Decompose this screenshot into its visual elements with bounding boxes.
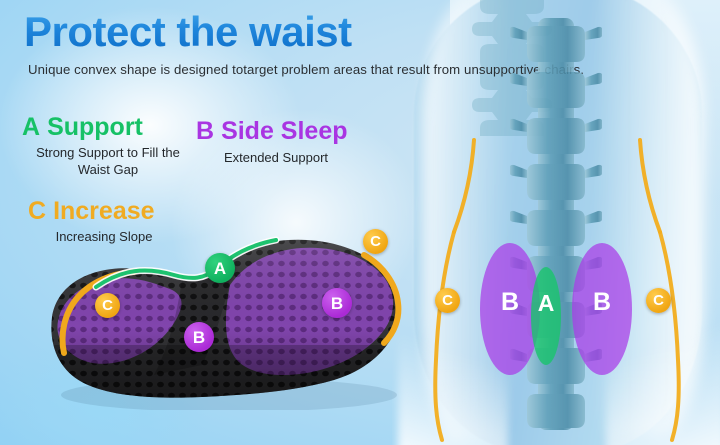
product-infographic: Protect the waist Unique convex shape is… <box>0 0 720 445</box>
feature-b-letter: B <box>196 117 214 145</box>
feature-block-a: ASupport Strong Support to Fill the Wais… <box>22 114 194 179</box>
feature-c-title: Increase <box>53 197 154 225</box>
anatomy-badge-c-left: C <box>435 288 460 313</box>
product-badge-c-left: C <box>95 293 120 318</box>
anatomy-label-a-center: A <box>531 290 561 317</box>
product-badge-c-right: C <box>363 229 388 254</box>
feature-c-letter: C <box>28 197 46 225</box>
feature-a-title: Support <box>47 113 143 141</box>
page-title: Protect the waist <box>24 11 352 53</box>
product-badge-b-right: B <box>322 288 352 318</box>
feature-a-letter: A <box>22 113 40 141</box>
anatomy-diagram: B A B C C <box>392 0 720 445</box>
feature-b-heading: BSide Sleep <box>196 118 356 144</box>
feature-block-b: BSide Sleep Extended Support <box>196 118 356 166</box>
product-badge-a: A <box>205 253 235 283</box>
feature-a-description: Strong Support to Fill the Waist Gap <box>22 144 194 178</box>
product-badge-b-left: B <box>184 322 214 352</box>
anatomy-badge-c-right: C <box>646 288 671 313</box>
feature-a-heading: ASupport <box>22 114 194 140</box>
waist-contour-curves <box>392 0 720 445</box>
product-image: A B B C C <box>34 225 414 410</box>
feature-b-title: Side Sleep <box>221 117 347 145</box>
anatomy-label-b-right: B <box>572 288 632 317</box>
feature-b-description: Extended Support <box>196 149 356 166</box>
feature-c-heading: CIncrease <box>28 198 180 224</box>
